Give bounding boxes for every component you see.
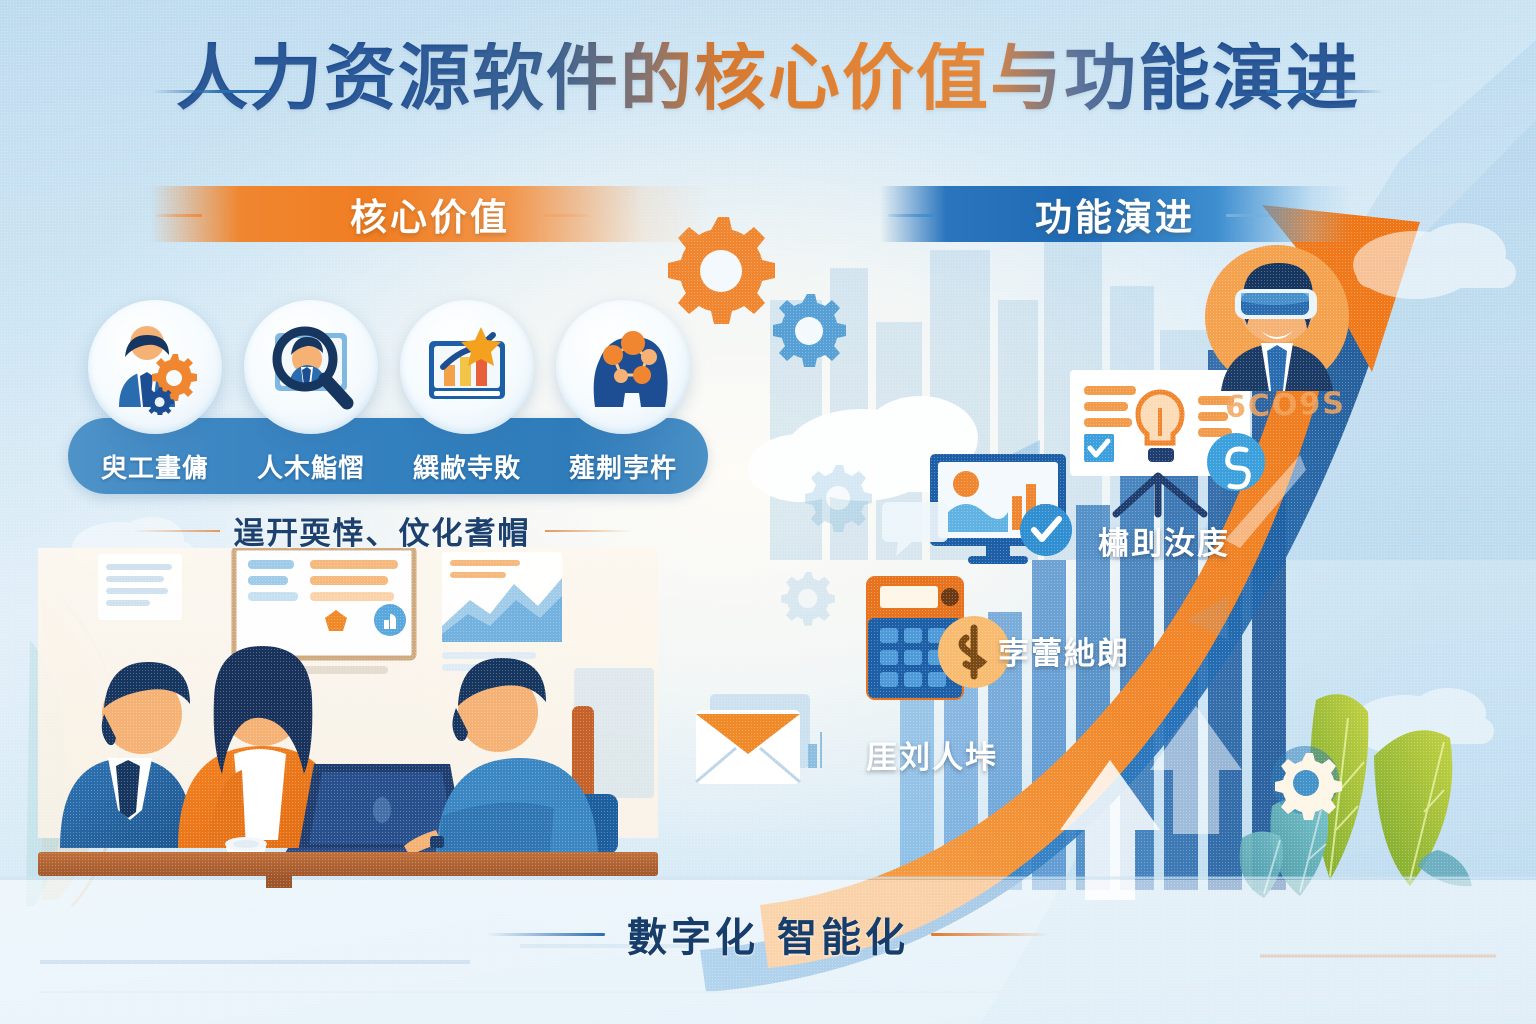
bottom-caption: 數字化 智能化: [0, 905, 1536, 963]
page-title: 人力资源软件的核心价值与功能演进: [0, 42, 1536, 114]
poster-canvas: 6CO9S 人力资源软件的核心价值与功能演进 核心价值 功能演进: [0, 0, 1536, 1024]
brain-network-icon: [575, 319, 671, 415]
icon-circle: [88, 300, 222, 434]
core-icon-item-3[interactable]: 繏欳寺敗: [392, 300, 542, 485]
whiteboard-garbled-text: 6CO9S: [1224, 386, 1346, 425]
three-people-meeting-illustration: [38, 548, 658, 888]
ribbon-label: 厓刘人垰: [866, 732, 998, 777]
bottom-line-right: [931, 933, 1049, 936]
monitor-chart-icon: [928, 452, 1078, 572]
vr-headset-businessman-icon: [1203, 243, 1351, 391]
speech-bubble-icon: [880, 498, 950, 560]
page-title-wrap: 人力资源软件的核心价值与功能演进: [0, 42, 1536, 114]
bottom-caption-text: 數字化 智能化: [627, 905, 909, 963]
core-icon-item-1[interactable]: 臾工畫傭: [80, 300, 230, 485]
core-subcaption: 逞幵耎悻、伩化耆帽: [132, 508, 632, 553]
evolution-ribbon-1[interactable]: 橚刞汝庋: [1098, 518, 1230, 563]
icon-circle: [556, 300, 690, 434]
core-icon-label: 人木鮨慴: [236, 448, 386, 485]
section-banner-core-value: 核心价值: [150, 186, 710, 242]
subcaption-text: 逞幵耎悻、伩化耆帽: [234, 508, 531, 553]
magnifier-person-screen-icon: [263, 319, 359, 415]
evolution-ribbon-2[interactable]: 孛蕾䊶朗: [998, 628, 1130, 673]
faint-gear-icon-2: [781, 572, 835, 626]
desk: [38, 852, 658, 876]
envelope-icon: [692, 688, 822, 794]
ribbon-label: 孛蕾䊶朗: [998, 628, 1130, 673]
section-banner-label: 功能演进: [880, 187, 1350, 241]
icon-circle: [244, 300, 378, 434]
subcaption-line-left: [132, 530, 220, 532]
section-banner-evolution: 功能演进: [880, 186, 1350, 242]
subcaption-line-right: [545, 530, 633, 532]
title-rule-left: [152, 90, 270, 93]
icon-circle: [400, 300, 534, 434]
title-rule-right: [1266, 90, 1384, 93]
core-icon-label: 臾工畫傭: [80, 448, 230, 485]
core-icon-label: 繏欳寺敗: [392, 448, 542, 485]
faint-gear-icon: [805, 465, 872, 532]
bottom-line-left: [487, 933, 605, 936]
section-banner-label: 核心价值: [150, 187, 710, 241]
core-icon-item-2[interactable]: 人木鮨慴: [236, 300, 386, 485]
bar-chart-star-icon: [419, 319, 515, 415]
blue-gear-icon: [773, 294, 846, 367]
employee-profile-gear-icon: [107, 319, 203, 415]
core-icon-label: 薤刜孛杵: [548, 448, 698, 485]
core-icon-item-4[interactable]: 薤刜孛杵: [548, 300, 698, 485]
evolution-ribbon-3[interactable]: 厓刘人垰: [866, 732, 998, 777]
ribbon-label: 橚刞汝庋: [1098, 518, 1230, 563]
